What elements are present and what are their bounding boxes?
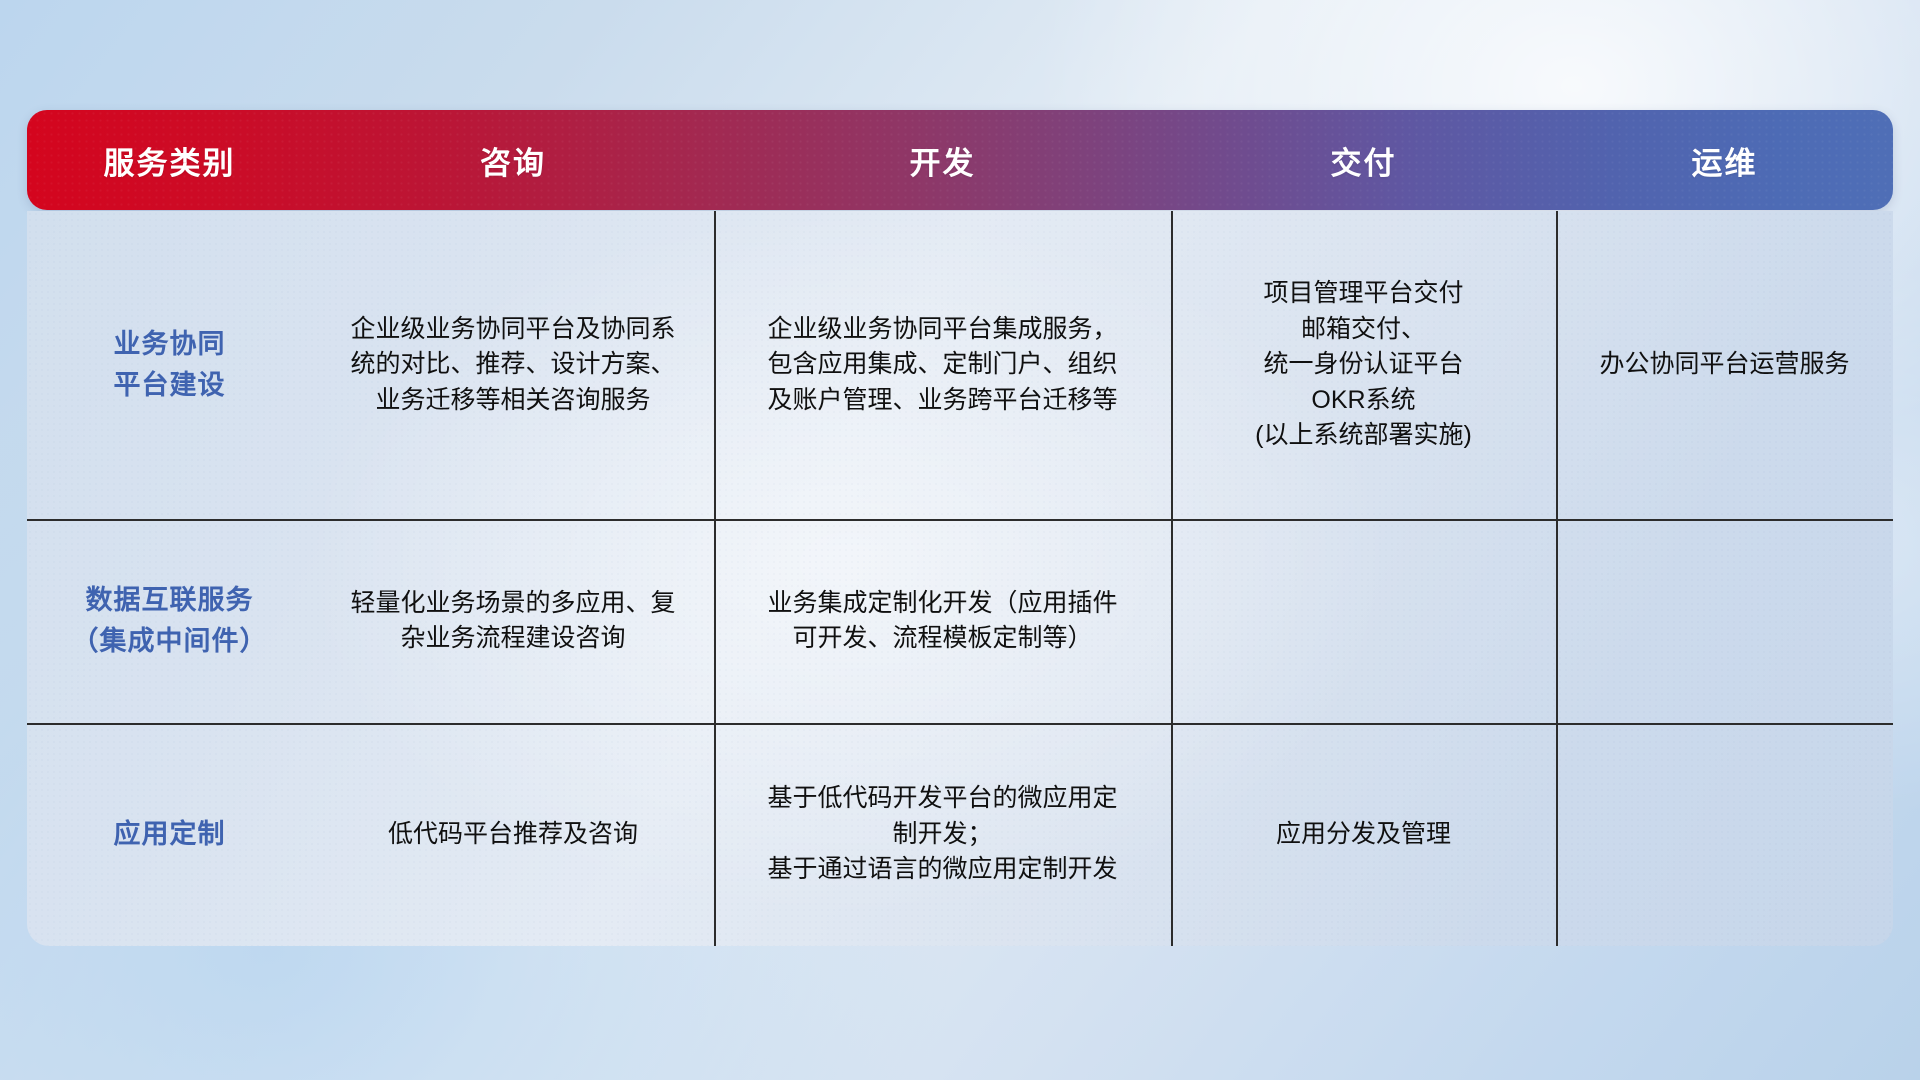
row-1-development-text: 企业级业务协同平台集成服务， 包含应用集成、定制门户、组织 及账户管理、业务跨平… — [767, 312, 1117, 419]
row-1-consulting-text: 企业级业务协同平台及协同系 统的对比、推荐、设计方案、 业务迁移等相关咨询服务 — [350, 312, 675, 419]
row-category-label: 应用定制 — [27, 723, 312, 946]
row-1-category-text: 业务协同 平台建设 — [114, 324, 226, 406]
column-header-consulting: 咨询 — [312, 138, 714, 183]
row-1-cell-operations: 办公协同平台运营服务 — [1556, 211, 1893, 519]
row-2-cell-delivery — [1171, 519, 1556, 723]
row-3-consulting-text: 低代码平台推荐及咨询 — [388, 817, 638, 853]
column-header-delivery: 交付 — [1171, 138, 1556, 183]
column-divider-2 — [1171, 211, 1173, 946]
row-category-label: 数据互联服务 （集成中间件） — [27, 519, 312, 723]
column-header-development: 开发 — [714, 138, 1171, 183]
row-2-cell-operations — [1556, 519, 1893, 723]
row-2-category-text: 数据互联服务 （集成中间件） — [72, 580, 268, 662]
row-1-delivery-text: 项目管理平台交付 邮箱交付、 统一身份认证平台 OKR系统 (以上系统部署实施) — [1255, 276, 1472, 454]
table-row: 应用定制 低代码平台推荐及咨询 基于低代码开发平台的微应用定 制开发； 基于通过… — [27, 723, 1893, 946]
row-2-cell-consulting: 轻量化业务场景的多应用、复 杂业务流程建设咨询 — [312, 519, 714, 723]
row-3-cell-operations — [1556, 723, 1893, 946]
table-body: 业务协同 平台建设 企业级业务协同平台及协同系 统的对比、推荐、设计方案、 业务… — [27, 211, 1893, 946]
row-3-cell-consulting: 低代码平台推荐及咨询 — [312, 723, 714, 946]
row-2-cell-development: 业务集成定制化开发（应用插件 可开发、流程模板定制等） — [714, 519, 1171, 723]
row-2-consulting-text: 轻量化业务场景的多应用、复 杂业务流程建设咨询 — [350, 586, 675, 657]
row-1-operations-text: 办公协同平台运营服务 — [1599, 347, 1849, 383]
table-header-row: 服务类别 咨询 开发 交付 运维 — [27, 110, 1893, 210]
column-divider-1 — [714, 211, 716, 946]
row-divider-2 — [27, 723, 1893, 725]
row-3-development-text: 基于低代码开发平台的微应用定 制开发； 基于通过语言的微应用定制开发 — [767, 781, 1117, 888]
row-3-delivery-text: 应用分发及管理 — [1276, 817, 1451, 853]
column-header-category: 服务类别 — [27, 138, 312, 183]
column-header-operations: 运维 — [1556, 138, 1893, 183]
row-3-cell-development: 基于低代码开发平台的微应用定 制开发； 基于通过语言的微应用定制开发 — [714, 723, 1171, 946]
row-1-cell-delivery: 项目管理平台交付 邮箱交付、 统一身份认证平台 OKR系统 (以上系统部署实施) — [1171, 211, 1556, 519]
services-matrix-table: 服务类别 咨询 开发 交付 运维 业务协同 平台建设 企业级业务协同平台及协同系… — [27, 110, 1893, 946]
row-2-development-text: 业务集成定制化开发（应用插件 可开发、流程模板定制等） — [767, 586, 1117, 657]
column-divider-3 — [1556, 211, 1558, 946]
row-1-cell-consulting: 企业级业务协同平台及协同系 统的对比、推荐、设计方案、 业务迁移等相关咨询服务 — [312, 211, 714, 519]
table-row: 业务协同 平台建设 企业级业务协同平台及协同系 统的对比、推荐、设计方案、 业务… — [27, 211, 1893, 519]
row-3-cell-delivery: 应用分发及管理 — [1171, 723, 1556, 946]
table-row: 数据互联服务 （集成中间件） 轻量化业务场景的多应用、复 杂业务流程建设咨询 业… — [27, 519, 1893, 723]
row-3-category-text: 应用定制 — [114, 814, 226, 855]
row-1-cell-development: 企业级业务协同平台集成服务， 包含应用集成、定制门户、组织 及账户管理、业务跨平… — [714, 211, 1171, 519]
row-divider-1 — [27, 519, 1893, 521]
row-category-label: 业务协同 平台建设 — [27, 211, 312, 519]
